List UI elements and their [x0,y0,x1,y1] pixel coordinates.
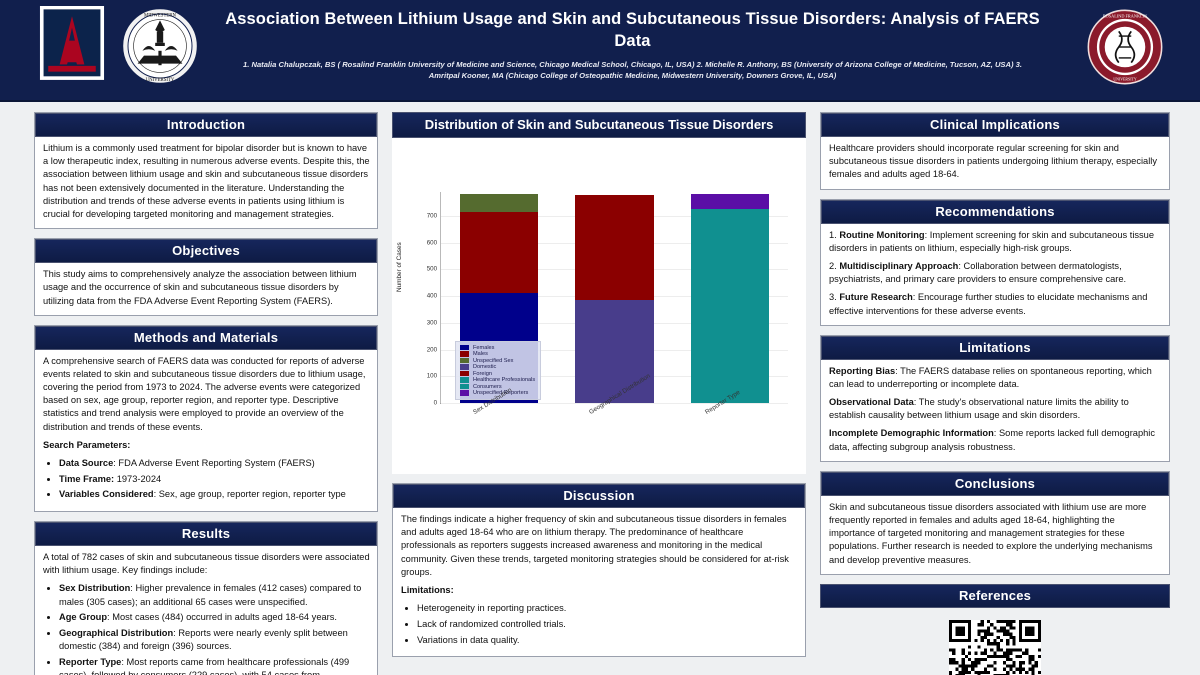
section-body-clinical-implications: Healthcare providers should incorporate … [821,137,1169,189]
param-label: Variables Considered [59,489,154,499]
chart-bar-segment[interactable] [575,300,654,403]
chart-legend-label: Consumers [473,384,502,390]
discussion-limitations-list: Heterogeneity in reporting practices. La… [417,602,798,647]
recommendation-label: Future Research [839,292,912,302]
list-item: Heterogeneity in reporting practices. [417,602,798,615]
chart-legend-item[interactable]: Healthcare Professionals [460,377,535,383]
section-body-results: A total of 782 cases of skin and subcuta… [35,546,377,675]
clinical-implications-paragraph: Healthcare providers should incorporate … [829,142,1162,182]
author-affiliation-line: 1. Natalia Chalupczak, BS ( Rosalind Fra… [215,59,1050,82]
chart-y-tick-label: 100 [427,373,437,380]
param-value: : Sex, age group, reporter region, repor… [154,489,346,499]
list-item: Lack of randomized controlled trials. [417,618,798,631]
results-findings-list: Sex Distribution: Higher prevalence in f… [59,582,370,675]
recommendation-number: 1. [829,230,837,240]
qr-code-icon[interactable] [949,620,1041,675]
chart-y-tick-label: 700 [427,213,437,220]
finding-label: Reporter Type [59,657,121,667]
section-heading-results: Results [35,522,377,546]
introduction-paragraph: Lithium is a commonly used treatment for… [43,142,370,221]
chart-bar-stack[interactable] [691,194,770,403]
section-introduction: Introduction Lithium is a commonly used … [34,112,378,229]
chart-y-tick-label: 500 [427,266,437,273]
chart-bar-segment[interactable] [575,195,654,301]
chart-bar-segment[interactable] [691,270,770,403]
chart-y-axis-label: Number of Cases [396,242,403,292]
results-intro: A total of 782 cases of skin and subcuta… [43,551,370,577]
limitation-item: Incomplete Demographic Information: Some… [829,427,1162,453]
section-body-objectives: This study aims to comprehensively analy… [35,263,377,315]
finding-value: : Most cases (484) occurred in adults ag… [107,612,337,622]
param-value: 1973-2024 [114,474,161,484]
chart-legend-item[interactable]: Domestic [460,364,535,370]
conclusions-paragraph: Skin and subcutaneous tissue disorders a… [829,501,1162,567]
limitation-item: Reporting Bias: The FAERS database relie… [829,365,1162,391]
limitation-label: Reporting Bias [829,366,895,376]
section-recommendations: Recommendations 1. Routine Monitoring: I… [820,199,1170,326]
section-clinical-implications: Clinical Implications Healthcare provide… [820,112,1170,190]
section-heading-references: References [820,584,1170,608]
poster-canvas: MIDWESTERN UNIVERSITY Association Betwee… [0,0,1200,675]
stacked-bar-chart: Number of Cases 0100200300400500600700Fe… [392,144,806,474]
section-heading-introduction: Introduction [35,113,377,137]
param-label: Time Frame: [59,474,114,484]
recommendation-label: Multidisciplinary Approach [839,261,958,271]
chart-legend-swatch [460,358,469,364]
list-item: Sex Distribution: Higher prevalence in f… [59,582,370,608]
limitation-label: Incomplete Demographic Information [829,428,994,438]
chart-legend-item[interactable]: Foreign [460,371,535,377]
section-body-limitations: Reporting Bias: The FAERS database relie… [821,360,1169,461]
section-heading-recommendations: Recommendations [821,200,1169,224]
chart-bar-segment[interactable] [691,194,770,208]
chart-y-tick-label: 0 [434,400,437,407]
chart-legend-swatch [460,390,469,396]
limitation-item: Observational Data: The study's observat… [829,396,1162,422]
chart-legend-swatch [460,345,469,351]
chart-legend-label: Females [473,345,494,351]
section-discussion: Discussion The findings indicate a highe… [392,483,806,657]
chart-y-tick-label: 200 [427,346,437,353]
chart-legend-item[interactable]: Consumers [460,384,535,390]
svg-text:ROSALIND FRANKLIN: ROSALIND FRANKLIN [1103,13,1147,18]
chart-y-tick-label: 600 [427,239,437,246]
section-references: References [820,584,1170,675]
chart-legend-item[interactable]: Males [460,351,535,357]
discussion-paragraph: The findings indicate a higher frequency… [401,513,798,579]
svg-text:MIDWESTERN: MIDWESTERN [144,13,177,18]
recommendation-label: Routine Monitoring [839,230,924,240]
param-value: : FDA Adverse Event Reporting System (FA… [113,458,315,468]
left-column: Introduction Lithium is a commonly used … [34,112,378,675]
chart-legend-label: Healthcare Professionals [473,377,535,383]
recommendation-item: 3. Future Research: Encourage further st… [829,291,1162,317]
section-methods-and-materials: Methods and Materials A comprehensive se… [34,325,378,512]
section-objectives: Objectives This study aims to comprehens… [34,238,378,316]
poster-header: MIDWESTERN UNIVERSITY Association Betwee… [0,0,1200,102]
chart-legend-item[interactable]: Females [460,345,535,351]
references-qr-wrap [820,608,1170,675]
section-heading-conclusions: Conclusions [821,472,1169,496]
section-body-discussion: The findings indicate a higher frequency… [393,508,805,656]
list-item: Time Frame: 1973-2024 [59,473,370,486]
finding-label: Geographical Distribution [59,628,173,638]
chart-plot-area: 0100200300400500600700FemalesMalesUnspec… [440,192,788,404]
chart-legend-swatch [460,351,469,357]
chart-title: Distribution of Skin and Subcutaneous Ti… [392,112,806,138]
chart-legend-label: Males [473,351,488,357]
right-column: Clinical Implications Healthcare provide… [820,112,1170,675]
section-heading-objectives: Objectives [35,239,377,263]
chart-legend-swatch [460,371,469,377]
section-results: Results A total of 782 cases of skin and… [34,521,378,675]
list-item: Geographical Distribution: Reports were … [59,627,370,653]
svg-text:UNIVERSITY: UNIVERSITY [146,78,175,83]
chart-legend: FemalesMalesUnspecified SexDomesticForei… [455,341,541,401]
finding-label: Age Group [59,612,107,622]
section-body-conclusions: Skin and subcutaneous tissue disorders a… [821,496,1169,574]
section-body-methods: A comprehensive search of FAERS data was… [35,350,377,511]
list-item: Variations in data quality. [417,634,798,647]
section-body-introduction: Lithium is a commonly used treatment for… [35,137,377,228]
section-heading-limitations: Limitations [821,336,1169,360]
chart-y-tick-label: 400 [427,293,437,300]
section-heading-methods: Methods and Materials [35,326,377,350]
list-item: Age Group: Most cases (484) occurred in … [59,611,370,624]
chart-legend-item[interactable]: Unspecified Sex [460,358,535,364]
chart-legend-swatch [460,364,469,370]
recommendation-item: 2. Multidisciplinary Approach: Collabora… [829,260,1162,286]
section-heading-discussion: Discussion [393,484,805,508]
section-conclusions: Conclusions Skin and subcutaneous tissue… [820,471,1170,575]
chart-bar-stack[interactable] [575,195,654,403]
recommendation-number: 3. [829,292,837,302]
chart-legend-label: Foreign [473,371,492,377]
methods-paragraph: A comprehensive search of FAERS data was… [43,355,370,434]
objectives-paragraph: This study aims to comprehensively analy… [43,268,370,308]
list-item: Reporter Type: Most reports came from he… [59,656,370,675]
chart-legend-swatch [460,384,469,390]
list-item: Variables Considered: Sex, age group, re… [59,488,370,501]
page-title: Association Between Lithium Usage and Sk… [215,8,1050,53]
section-limitations: Limitations Reporting Bias: The FAERS da… [820,335,1170,462]
finding-label: Sex Distribution [59,583,130,593]
search-parameters-list: Data Source: FDA Adverse Event Reporting… [59,457,370,502]
chart-panel: Distribution of Skin and Subcutaneous Ti… [392,112,806,474]
rosalind-franklin-university-seal: ROSALIND FRANKLIN UNIVERSITY [1086,8,1164,86]
discussion-limitations-label: Limitations: [401,585,454,595]
chart-legend-swatch [460,377,469,383]
list-item: Data Source: FDA Adverse Event Reporting… [59,457,370,470]
search-parameters-label: Search Parameters: [43,440,130,450]
center-column: Distribution of Skin and Subcutaneous Ti… [392,112,806,657]
chart-legend-label: Unspecified Sex [473,358,513,364]
midwestern-university-seal: MIDWESTERN UNIVERSITY [120,6,200,86]
recommendation-item: 1. Routine Monitoring: Implement screeni… [829,229,1162,255]
recommendation-number: 2. [829,261,837,271]
param-label: Data Source [59,458,113,468]
chart-bar-segment[interactable] [460,194,539,211]
chart-bar-segment[interactable] [460,212,539,293]
poster-body: Introduction Lithium is a commonly used … [0,104,1200,675]
section-body-recommendations: 1. Routine Monitoring: Implement screeni… [821,224,1169,325]
header-text-block: Association Between Lithium Usage and Sk… [215,8,1050,81]
limitation-label: Observational Data [829,397,914,407]
chart-y-tick-label: 300 [427,319,437,326]
chart-legend-label: Domestic [473,364,496,370]
university-of-arizona-logo [36,6,108,84]
svg-text:UNIVERSITY: UNIVERSITY [1113,78,1137,82]
chart-bar-segment[interactable] [691,209,770,270]
section-heading-clinical-implications: Clinical Implications [821,113,1169,137]
